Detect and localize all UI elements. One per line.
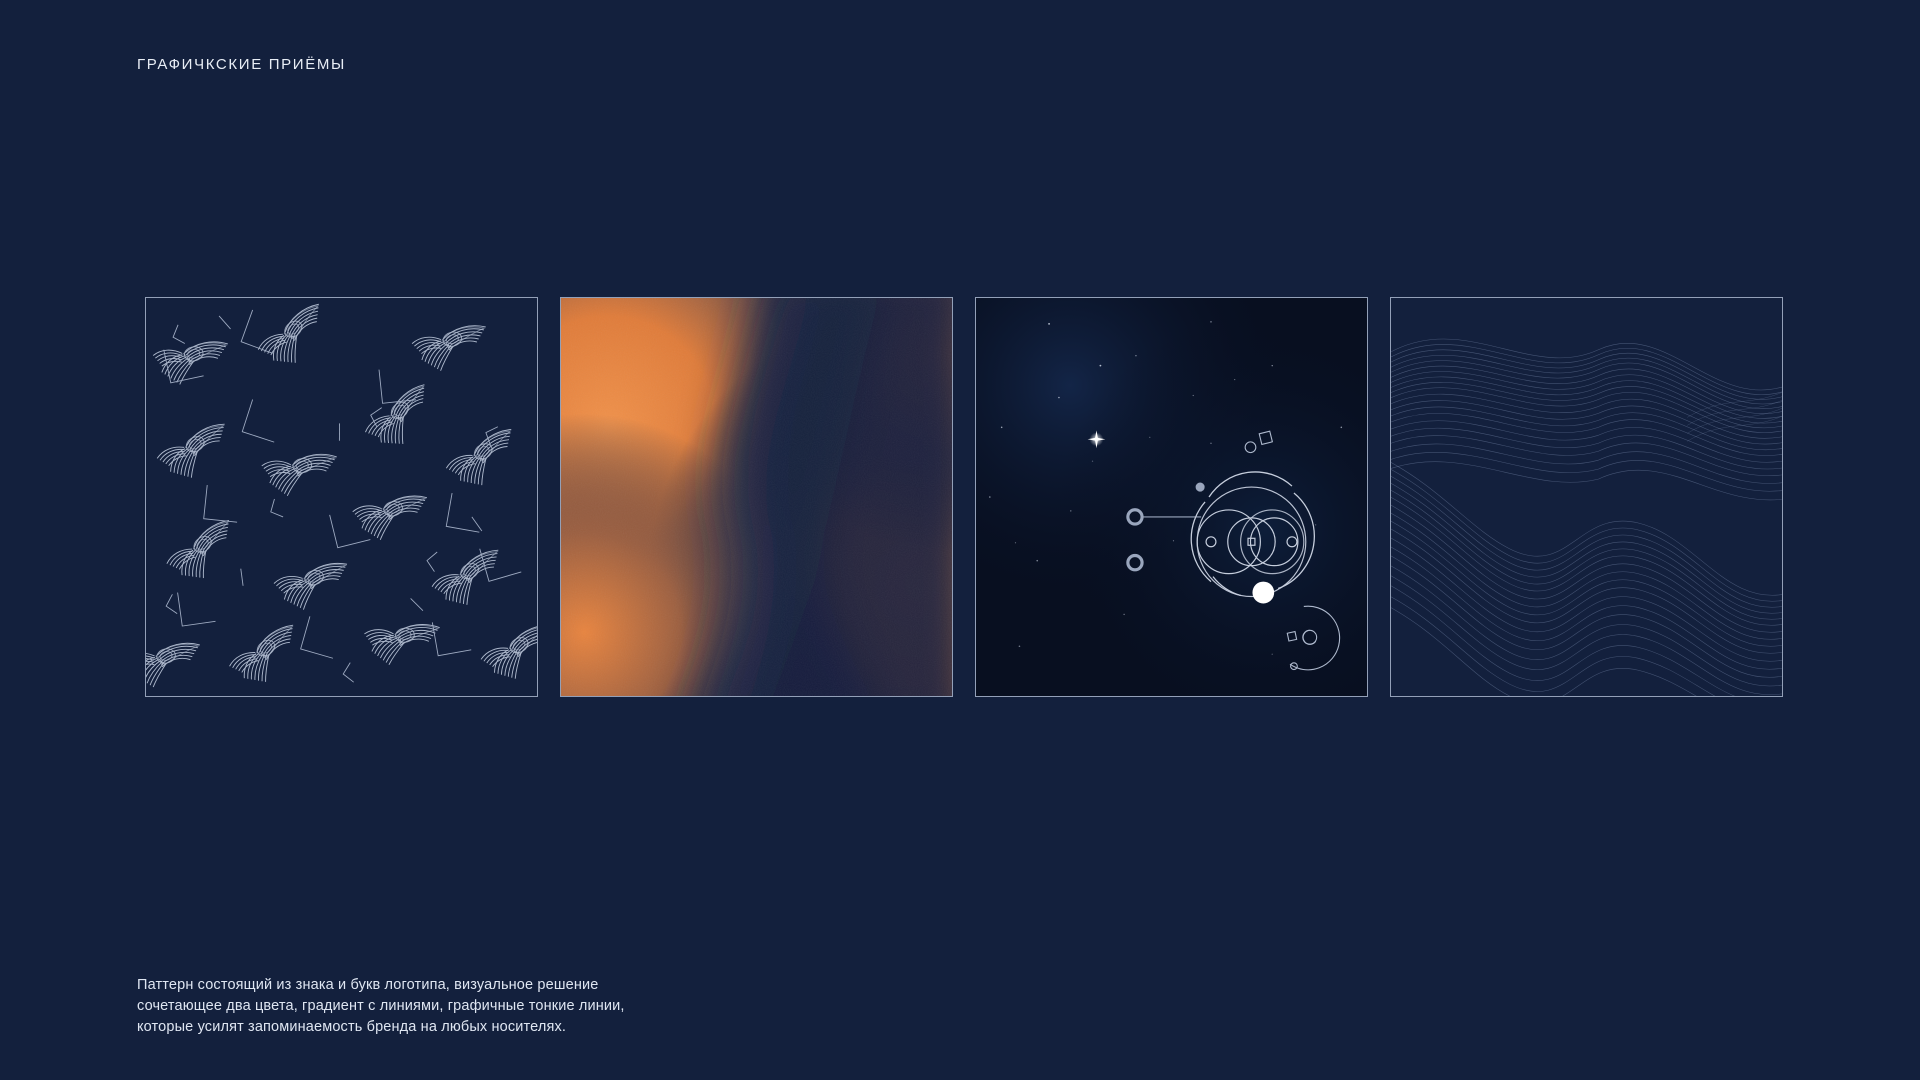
panel-waves[interactable] bbox=[1390, 297, 1783, 697]
space-graphic bbox=[976, 298, 1367, 696]
panel-row bbox=[145, 297, 1783, 697]
caption-line-3: которые усилят запоминаемость бренда на … bbox=[137, 1017, 625, 1038]
moon-dot bbox=[1196, 482, 1205, 491]
panel-gradient[interactable] bbox=[560, 297, 953, 697]
waves-graphic bbox=[1391, 298, 1782, 696]
caption-block: Паттерн состоящий из знака и букв логоти… bbox=[137, 975, 625, 1038]
planet-dot bbox=[1252, 582, 1274, 604]
panel-pattern[interactable] bbox=[145, 297, 538, 697]
caption-line-2: сочетающее два цвета, градиент с линиями… bbox=[137, 996, 625, 1017]
pattern-graphic bbox=[146, 298, 537, 696]
page-title: ГРАФИЧКСКИЕ ПРИЁМЫ bbox=[137, 56, 346, 73]
caption-line-1: Паттерн состоящий из знака и букв логоти… bbox=[137, 975, 625, 996]
gradient-graphic bbox=[561, 298, 952, 696]
panel-space[interactable] bbox=[975, 297, 1368, 697]
